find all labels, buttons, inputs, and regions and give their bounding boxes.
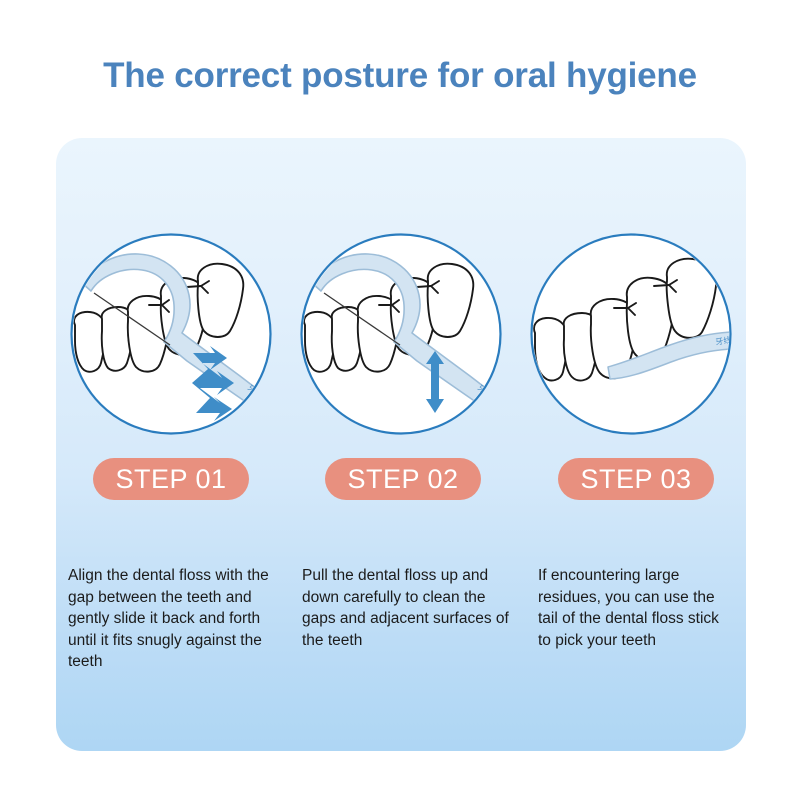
step-badge-1[interactable]: STEP 01 bbox=[93, 458, 249, 500]
step-caption-2: Pull the dental floss up and down carefu… bbox=[302, 565, 516, 651]
illustration-step-1: 牙线 bbox=[70, 233, 272, 435]
step-caption-3: If encountering large residues, you can … bbox=[538, 565, 734, 651]
illustration-step-2: 牙线 bbox=[300, 233, 502, 435]
content-card: 牙线 STEP 01 Align the dental floss with t… bbox=[56, 138, 746, 751]
step-column-3: 牙线 STEP 03 If encountering large residue… bbox=[516, 138, 746, 751]
illustration-step-3: 牙线 bbox=[530, 233, 732, 435]
page-title: The correct posture for oral hygiene bbox=[0, 56, 800, 96]
step-column-2: 牙线 STEP 02 Pull the dental floss up and … bbox=[286, 138, 516, 751]
step-badge-3[interactable]: STEP 03 bbox=[558, 458, 714, 500]
step-column-1: 牙线 STEP 01 Align the dental floss with t… bbox=[56, 138, 286, 751]
step-badge-2[interactable]: STEP 02 bbox=[325, 458, 481, 500]
steps-container: 牙线 STEP 01 Align the dental floss with t… bbox=[56, 138, 746, 751]
step-caption-1: Align the dental floss with the gap betw… bbox=[68, 565, 292, 673]
